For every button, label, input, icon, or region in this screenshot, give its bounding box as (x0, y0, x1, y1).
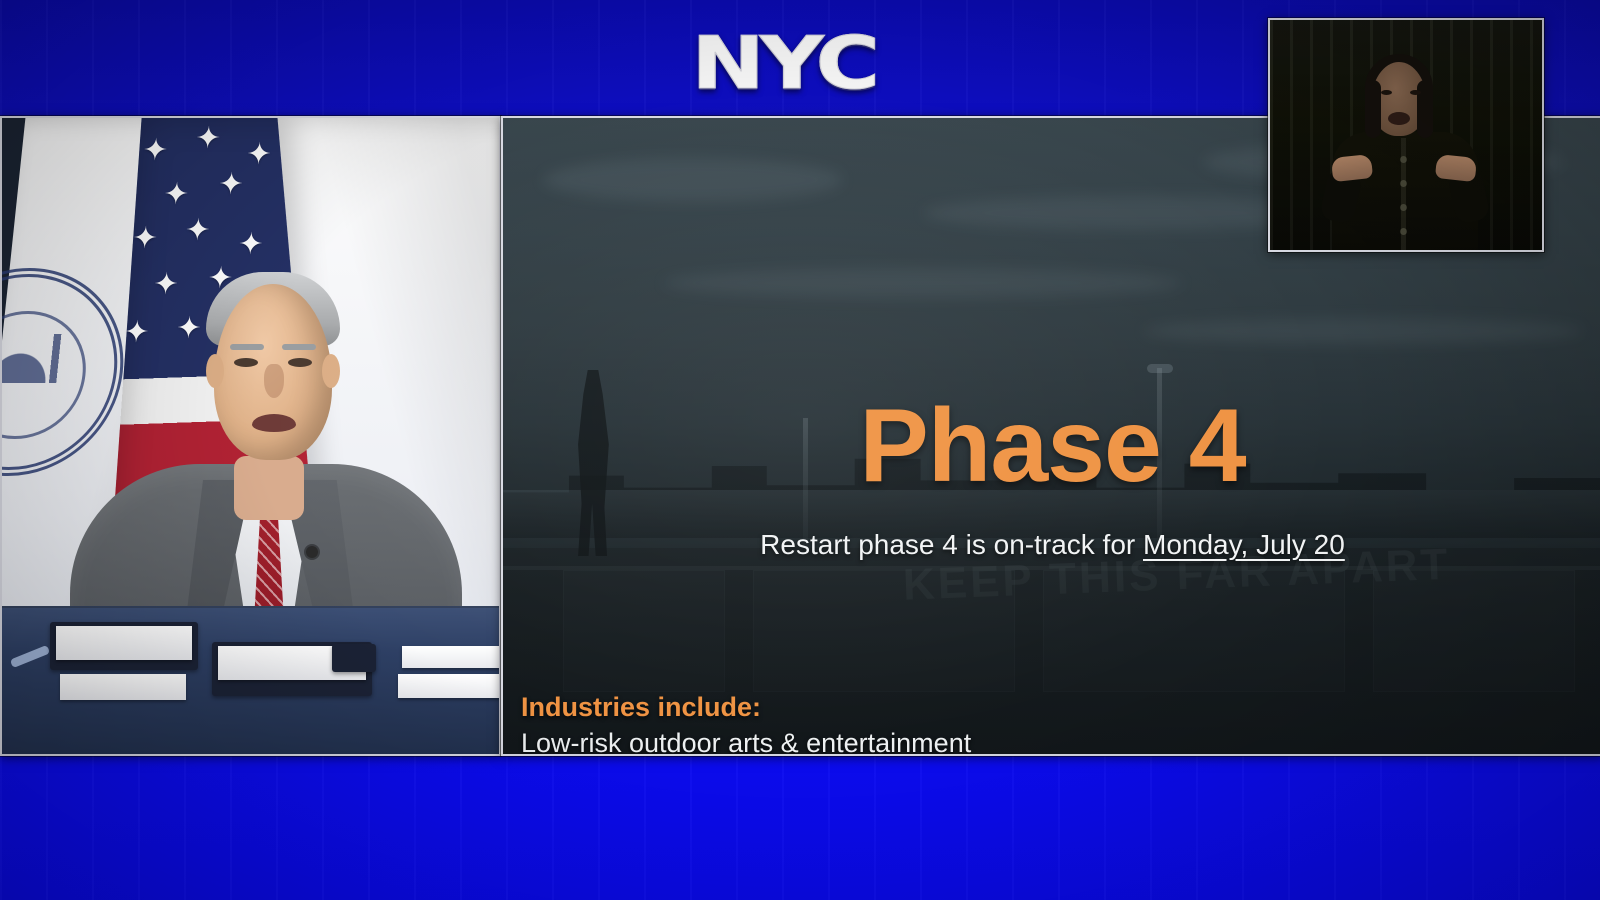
interpreter-eye-right (1410, 90, 1421, 95)
shirt-button (1400, 204, 1407, 211)
neck (234, 456, 304, 520)
eye-right (288, 358, 312, 367)
nyc-wordmark-text: NYC (691, 21, 875, 105)
broadcast-frame: NYC ✦ ✦ ✦ ✦ ✦ ✦ ✦ ✦ ✦ ✦ ✦ (0, 0, 1600, 900)
interpreter-eye-left (1381, 90, 1392, 95)
list-item: Low-risk outdoor arts & entertainment (521, 726, 1588, 756)
interpreter-hair-side-right (1417, 80, 1433, 138)
eyebrow-left (230, 344, 264, 350)
sign-language-interpreter-feed[interactable] (1268, 18, 1544, 252)
nyc-logo: NYC (668, 24, 898, 102)
speaker-video-feed[interactable]: ✦ ✦ ✦ ✦ ✦ ✦ ✦ ✦ ✦ ✦ ✦ ✦ ✦ ✦ (0, 116, 501, 756)
seal-eagle-icon (0, 334, 68, 383)
shirt-button (1400, 228, 1407, 235)
lapel-microphone-icon (306, 546, 318, 558)
star-icon: ✦ (142, 136, 169, 166)
pen (10, 645, 50, 668)
document-page (56, 626, 192, 660)
star-icon: ✦ (195, 124, 222, 154)
slide-subtitle: Restart phase 4 is on-track for Monday, … (503, 529, 1600, 561)
ear-right (322, 354, 340, 388)
ear-left (206, 354, 224, 388)
mouth (252, 414, 296, 432)
interpreter-mouth (1388, 112, 1410, 125)
interpreter-hand-left (1331, 154, 1373, 182)
interpreter-hand-right (1435, 154, 1477, 182)
eyebrow-right (282, 344, 316, 350)
interpreter-hair-side-left (1365, 80, 1381, 138)
document-page (398, 674, 501, 698)
star-icon: ✦ (245, 140, 272, 170)
shirt-button (1400, 156, 1407, 163)
eye-left (234, 358, 258, 367)
industries-block: Industries include: Low-risk outdoor art… (521, 692, 1588, 756)
star-icon: ✦ (217, 170, 244, 200)
slide-title: Phase 4 (503, 394, 1600, 498)
speaker-scene: ✦ ✦ ✦ ✦ ✦ ✦ ✦ ✦ ✦ ✦ ✦ ✦ ✦ ✦ (2, 118, 499, 754)
document-page (60, 674, 186, 700)
star-icon: ✦ (163, 180, 190, 210)
industries-list: Low-risk outdoor arts & entertainment Pr… (521, 726, 1588, 756)
document-page (402, 646, 501, 668)
press-conference-desk (2, 606, 499, 754)
nose (264, 364, 284, 398)
interpreter-scene (1270, 20, 1542, 250)
shirt-button (1400, 180, 1407, 187)
industries-heading: Industries include: (521, 692, 1588, 723)
slide-subtitle-date: Monday, July 20 (1143, 529, 1345, 560)
tablet-device (332, 644, 376, 672)
slide-subtitle-prefix: Restart phase 4 is on-track for (760, 529, 1143, 560)
